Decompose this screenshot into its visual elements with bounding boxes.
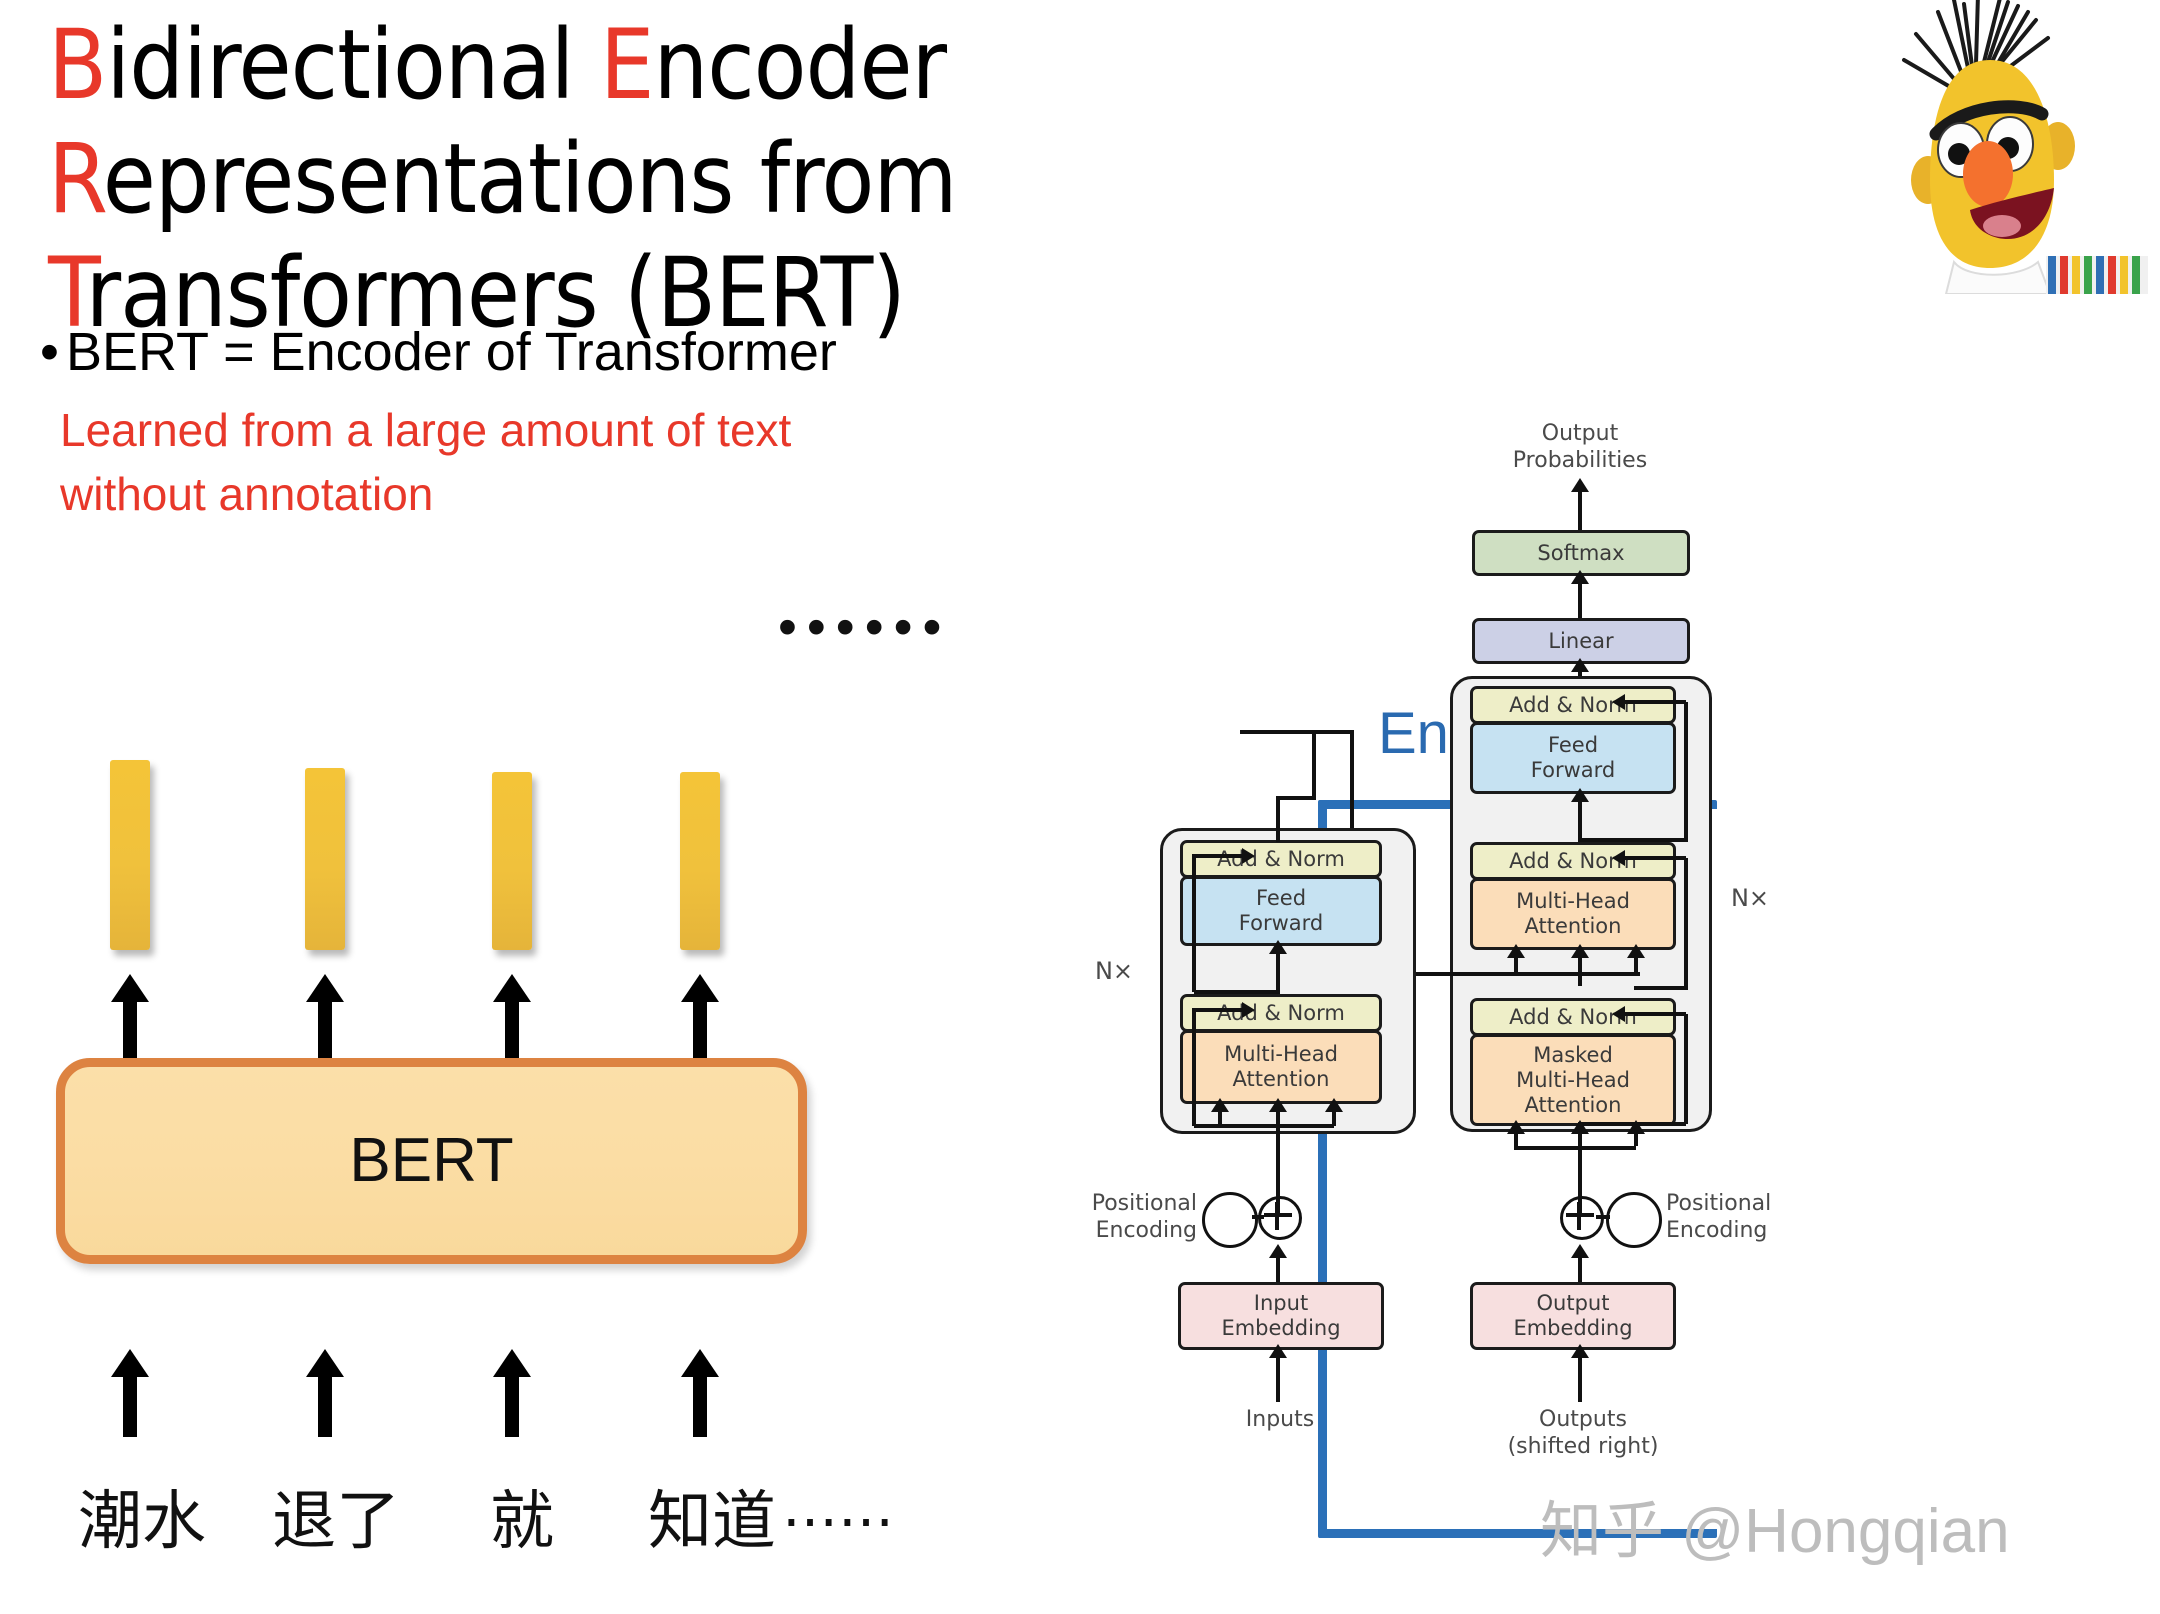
residual-dec-3-v (1684, 702, 1688, 842)
wire-masked-v (1634, 1132, 1638, 1146)
enc-mha-line-1: Multi-Head (1224, 1042, 1338, 1067)
output-label-line-2: Probabilities (1480, 447, 1680, 474)
watermark-text: 知乎 @Hongqian (1540, 1480, 2010, 1570)
wire-dec-mha-q (1578, 956, 1582, 986)
cross-attn-h-top (1240, 730, 1352, 734)
enc-mha-line-2: Attention (1233, 1067, 1330, 1092)
wire-enc-ff-in (1276, 952, 1280, 994)
wire-linear-to-softmax (1578, 582, 1582, 618)
output-arrow-3 (505, 1000, 519, 1058)
inputs-label: Inputs (1200, 1406, 1360, 1433)
output-vector-1 (110, 760, 150, 950)
input-token-3: 就 (490, 1470, 554, 1562)
arrow-dec-mha-k (1507, 944, 1525, 958)
input-token-4: 知道 (648, 1470, 776, 1562)
arrow-enc-mha-v (1325, 1098, 1343, 1112)
encoder-add-norm-2: Add & Norm (1180, 840, 1382, 878)
arrow-enc-mha-k (1211, 1098, 1229, 1112)
input-arrow-3 (505, 1375, 519, 1437)
decoder-add-norm-1: Add & Norm (1470, 998, 1676, 1036)
dec-pos-enc-line-1: Positional (1666, 1190, 1816, 1217)
input-arrow-2 (318, 1375, 332, 1437)
output-embedding-line-1: Output (1537, 1291, 1610, 1316)
dec-sum-plus-v (1577, 1202, 1581, 1230)
dec-pos-enc-line-2: Encoding (1666, 1217, 1816, 1244)
output-arrow-2 (318, 1000, 332, 1058)
wire-outemb-to-sum (1578, 1256, 1582, 1282)
wire-inemb-to-sum (1276, 1256, 1280, 1282)
outputs-line-2: (shifted right) (1488, 1433, 1678, 1460)
residual-dec-2-v (1684, 858, 1688, 988)
arrow-dec-mha-v (1627, 944, 1645, 958)
decoder-nx-label: N× (1720, 885, 1780, 912)
input-arrow-4 (693, 1375, 707, 1437)
residual-dec-2-h-bottom (1634, 986, 1688, 990)
encoder-add-norm-1: Add & Norm (1180, 994, 1382, 1032)
enc-pos-enc-line-1: Positional (1042, 1190, 1197, 1217)
input-token-2: 退了 (272, 1470, 400, 1562)
bert-diagram: •••••• BERT 潮水 退了 就 知道 …… (0, 0, 1000, 1614)
wire-outputs-to-emb (1578, 1356, 1582, 1402)
decoder-positional-encoding-label: Positional Encoding (1666, 1190, 1816, 1244)
mha-line-2: Attention (1525, 914, 1622, 939)
residual-enc-1-h-top (1192, 1008, 1244, 1012)
enc-sum-plus-v (1275, 1202, 1279, 1230)
output-arrow-4 (693, 1000, 707, 1058)
output-embedding-box: Output Embedding (1470, 1282, 1676, 1350)
residual-enc-2-v (1192, 856, 1196, 992)
arrow-decoder-linear (1571, 658, 1589, 672)
arrow-to-output (1571, 478, 1589, 492)
residual-dec-3-h-top (1620, 700, 1686, 704)
output-vector-3 (492, 772, 532, 950)
arrow-dec-mha-q (1571, 944, 1589, 958)
encoder-positional-encoding-circle (1202, 1192, 1258, 1248)
arrow-residual-dec-2 (1612, 850, 1625, 866)
arrow-inemb-sum (1269, 1244, 1287, 1258)
encoder-multi-head-attention: Multi-Head Attention (1180, 1030, 1382, 1104)
enc-out-v2 (1312, 730, 1316, 798)
encoder-positional-encoding-label: Positional Encoding (1042, 1190, 1197, 1244)
arrow-inputs-emb (1269, 1344, 1287, 1358)
arrow-residual-enc-1 (1242, 1002, 1255, 1018)
wire-masked-fanout (1514, 1146, 1636, 1150)
output-ellipsis: •••••• (778, 600, 951, 654)
residual-enc-2-h-top (1192, 854, 1244, 858)
input-arrow-1 (123, 1375, 137, 1437)
wire-inputs-to-emb (1276, 1356, 1280, 1402)
wire-softmax-to-output (1578, 490, 1582, 530)
masked-multi-head-attention: Masked Multi-Head Attention (1470, 1034, 1676, 1126)
residual-enc-1-h-bottom (1194, 1124, 1280, 1128)
input-embedding-box: Input Embedding (1178, 1282, 1384, 1350)
transformer-architecture-figure: Output Probabilities Softmax Linear Add … (1290, 430, 1990, 1610)
enc-feed-forward-line-2: Forward (1239, 911, 1323, 936)
arrow-enc-mha-q (1269, 1098, 1287, 1112)
input-ellipsis: …… (782, 1475, 894, 1540)
encoder-nx-label: N× (1084, 958, 1144, 985)
residual-enc-1-v (1192, 1010, 1196, 1126)
residual-dec-1-v (1684, 1014, 1688, 1124)
output-probabilities-label: Output Probabilities (1480, 420, 1680, 474)
masked-line-3: Attention (1525, 1093, 1622, 1118)
input-embedding-line-2: Embedding (1221, 1316, 1340, 1341)
residual-dec-1-h-bottom (1578, 1122, 1686, 1126)
decoder-feed-forward: Feed Forward (1470, 722, 1676, 794)
dec-pos-link (1596, 1215, 1610, 1219)
decoder-multi-head-attention: Multi-Head Attention (1470, 878, 1676, 950)
residual-dec-1-h-top (1620, 1012, 1686, 1016)
arrow-masked-k (1507, 1120, 1525, 1134)
input-token-1: 潮水 (78, 1470, 206, 1562)
feed-forward-line-2: Forward (1531, 758, 1615, 783)
bert-model-label: BERT (65, 1067, 798, 1255)
residual-dec-2-h-top (1620, 856, 1686, 860)
arrow-outputs-emb (1571, 1344, 1589, 1358)
encoder-sum-circle (1258, 1196, 1302, 1240)
output-arrow-1 (123, 1000, 137, 1058)
decoder-add-norm-3: Add & Norm (1470, 686, 1676, 724)
decoder-positional-encoding-circle (1606, 1192, 1662, 1248)
enc-feed-forward-line-1: Feed (1256, 886, 1306, 911)
encoder-feed-forward: Feed Forward (1180, 876, 1382, 946)
output-label-line-1: Output (1480, 420, 1680, 447)
arrow-linear-softmax (1571, 570, 1589, 584)
enc-out-v (1276, 796, 1280, 842)
mha-line-1: Multi-Head (1516, 889, 1630, 914)
arrow-residual-dec-3 (1612, 694, 1625, 710)
output-vector-2 (305, 768, 345, 950)
arrow-residual-dec-1 (1612, 1006, 1625, 1022)
feed-forward-line-1: Feed (1548, 733, 1598, 758)
masked-line-1: Masked (1533, 1043, 1613, 1068)
arrow-enc-ff-in (1269, 940, 1287, 954)
outputs-label: Outputs (shifted right) (1488, 1406, 1678, 1460)
masked-line-2: Multi-Head (1516, 1068, 1630, 1093)
input-embedding-line-1: Input (1254, 1291, 1308, 1316)
enc-pos-link (1252, 1215, 1264, 1219)
arrow-outemb-sum (1571, 1244, 1589, 1258)
wire-masked-k (1514, 1132, 1518, 1146)
output-vector-4 (680, 772, 720, 950)
outputs-line-1: Outputs (1488, 1406, 1678, 1433)
wire-dec-ff-in (1578, 800, 1582, 842)
bert-muppet-image (1842, 0, 2148, 294)
bert-model-box: BERT (56, 1058, 807, 1264)
arrow-residual-enc-2 (1242, 848, 1255, 864)
arrow-dec-ff-in (1571, 788, 1589, 802)
output-embedding-line-2: Embedding (1513, 1316, 1632, 1341)
enc-pos-enc-line-2: Encoding (1042, 1217, 1197, 1244)
enc-out-h (1276, 796, 1316, 800)
decoder-add-norm-2: Add & Norm (1470, 842, 1676, 880)
